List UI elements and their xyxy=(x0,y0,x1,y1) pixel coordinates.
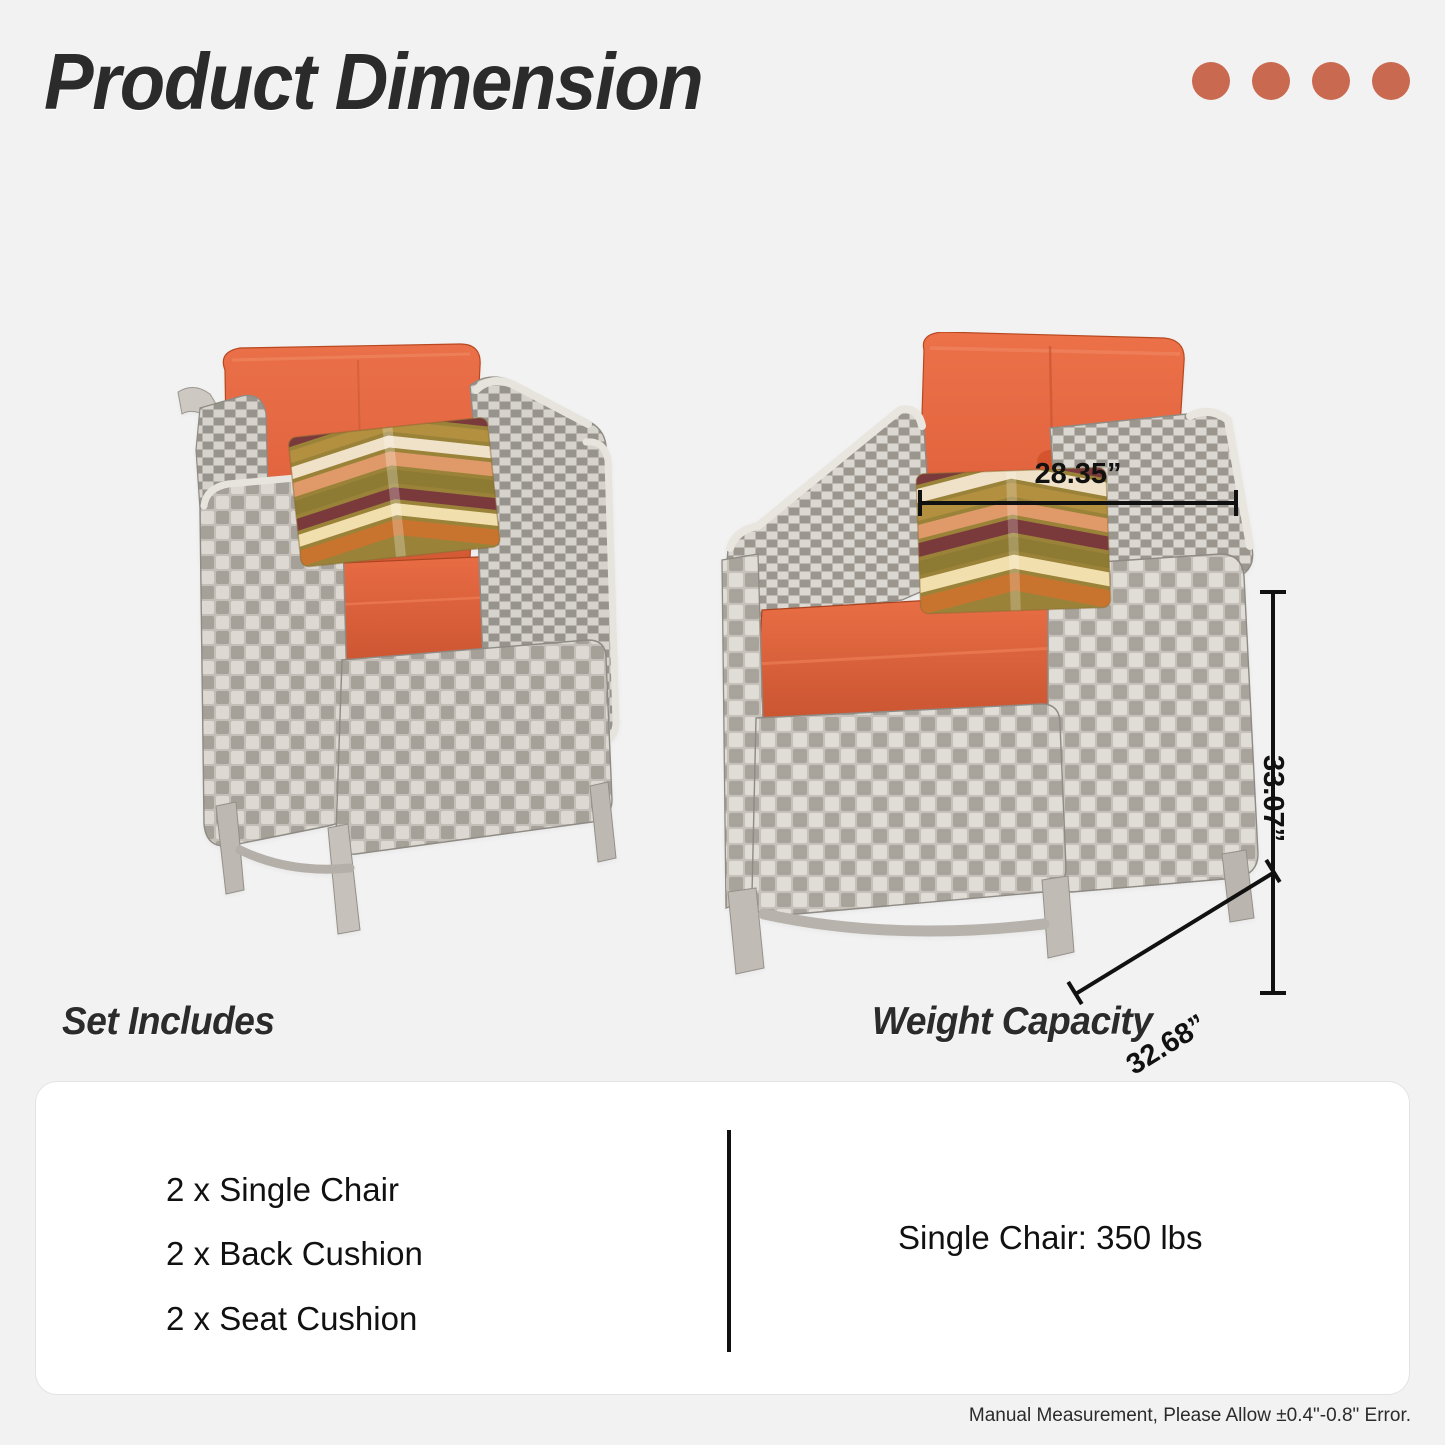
card-divider xyxy=(727,1130,731,1352)
product-dimension-infographic: Product Dimension xyxy=(0,0,1445,1445)
dot-icon xyxy=(1312,62,1350,100)
set-includes-heading: Set Includes xyxy=(62,1000,275,1044)
chair-image-right xyxy=(712,332,1272,992)
decorative-dots xyxy=(1192,62,1410,100)
weight-capacity-value: Single Chair: 350 lbs xyxy=(898,1219,1203,1257)
dimension-width-cap-right xyxy=(1234,490,1238,516)
dimension-width-line xyxy=(918,501,1238,505)
info-card: 2 x Single Chair 2 x Back Cushion 2 x Se… xyxy=(35,1081,1410,1395)
measurement-disclaimer: Manual Measurement, Please Allow ±0.4"-0… xyxy=(969,1405,1411,1427)
set-includes-list: 2 x Single Chair 2 x Back Cushion 2 x Se… xyxy=(166,1158,423,1351)
page-title: Product Dimension xyxy=(44,36,702,128)
dimension-width-cap-left xyxy=(918,490,922,516)
dot-icon xyxy=(1252,62,1290,100)
dimension-height-cap-top xyxy=(1260,590,1286,594)
chair-image-left xyxy=(170,330,670,970)
list-item: 2 x Single Chair xyxy=(166,1158,423,1222)
dimension-height-label: 33.07” xyxy=(1256,755,1289,842)
dimension-height-cap-bottom xyxy=(1260,991,1286,995)
list-item: 2 x Back Cushion xyxy=(166,1222,423,1286)
product-image-stage: 28.35” 33.07” 32.68” xyxy=(0,180,1445,980)
dot-icon xyxy=(1372,62,1410,100)
dimension-width-label: 28.35” xyxy=(918,458,1238,491)
dot-icon xyxy=(1192,62,1230,100)
list-item: 2 x Seat Cushion xyxy=(166,1287,423,1351)
weight-capacity-heading: Weight Capacity xyxy=(872,1000,1152,1044)
